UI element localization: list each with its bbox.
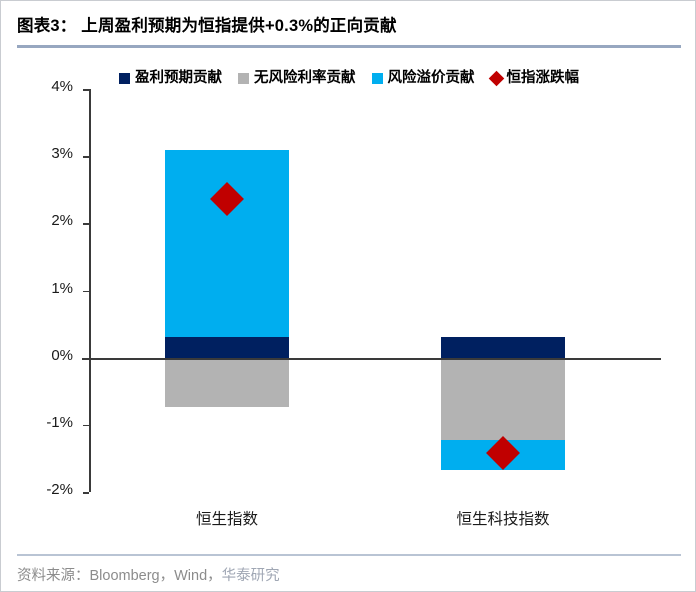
chart-legend: 盈利预期贡献 无风险利率贡献 风险溢价贡献 恒指涨跌幅 <box>1 71 696 85</box>
y-tick-label-2: 2% <box>51 212 73 229</box>
legend-item-earnings: 盈利预期贡献 <box>119 71 222 85</box>
page-title: 图表3： 上周盈利预期为恒指提供+0.3%的正向贡献 <box>17 13 681 39</box>
legend-item-riskfree: 无风险利率贡献 <box>238 71 356 85</box>
y-tick-label-4: 4% <box>51 78 73 95</box>
footer-divider <box>17 554 681 556</box>
y-tick-neg2: -2% <box>83 492 89 494</box>
chart-canvas: 盈利预期贡献 无风险利率贡献 风险溢价贡献 恒指涨跌幅 4% <box>1 59 696 539</box>
y-tick-4: 4% <box>83 89 89 91</box>
y-axis-line <box>89 89 91 492</box>
y-tick-label-1: 1% <box>51 280 73 297</box>
bar-hstech-earnings <box>441 337 565 358</box>
y-tick-label-3: 3% <box>51 145 73 162</box>
legend-label-riskpremium: 风险溢价贡献 <box>388 71 475 85</box>
figure-header: 图表3： 上周盈利预期为恒指提供+0.3%的正向贡献 <box>17 13 681 51</box>
bar-hsi-earnings <box>165 337 289 358</box>
legend-label-earnings: 盈利预期贡献 <box>135 71 222 85</box>
bar-hsi-risk-premium <box>165 150 289 337</box>
plot-area: 4% 3% 2% 1% 0% -1% -2% <box>89 89 661 492</box>
legend-label-riskfree: 无风险利率贡献 <box>254 71 356 85</box>
x-axis-label-hstech: 恒生科技指数 <box>441 507 565 529</box>
y-tick-2: 2% <box>83 223 89 225</box>
legend-label-index-return: 恒指涨跌幅 <box>507 71 580 85</box>
legend-item-riskpremium: 风险溢价贡献 <box>372 71 475 85</box>
source-prefix: 资料来源：Bloomberg，Wind， <box>17 568 222 584</box>
source-note: 资料来源：Bloomberg，Wind，华泰研究 <box>17 564 280 585</box>
legend-swatch-navy-icon <box>119 73 130 84</box>
legend-diamond-red-icon <box>488 70 504 86</box>
y-tick-3: 3% <box>83 156 89 158</box>
source-brand: 华泰研究 <box>222 568 280 584</box>
y-tick-label-neg2: -2% <box>46 481 73 498</box>
legend-item-index-return: 恒指涨跌幅 <box>491 71 580 85</box>
y-tick-label-0: 0% <box>51 347 73 364</box>
y-tick-label-neg1: -1% <box>46 414 73 431</box>
y-tick-neg1: -1% <box>83 425 89 427</box>
bar-hstech-riskfree <box>441 358 565 441</box>
header-divider <box>17 45 681 48</box>
legend-swatch-gray-icon <box>238 73 249 84</box>
y-tick-1: 1% <box>83 291 89 293</box>
bar-hsi-riskfree <box>165 358 289 407</box>
x-axis-label-hsi: 恒生指数 <box>165 507 289 529</box>
legend-swatch-cyan-icon <box>372 73 383 84</box>
chart-figure: 图表3： 上周盈利预期为恒指提供+0.3%的正向贡献 盈利预期贡献 无风险利率贡… <box>0 0 696 592</box>
zero-baseline <box>82 358 661 360</box>
